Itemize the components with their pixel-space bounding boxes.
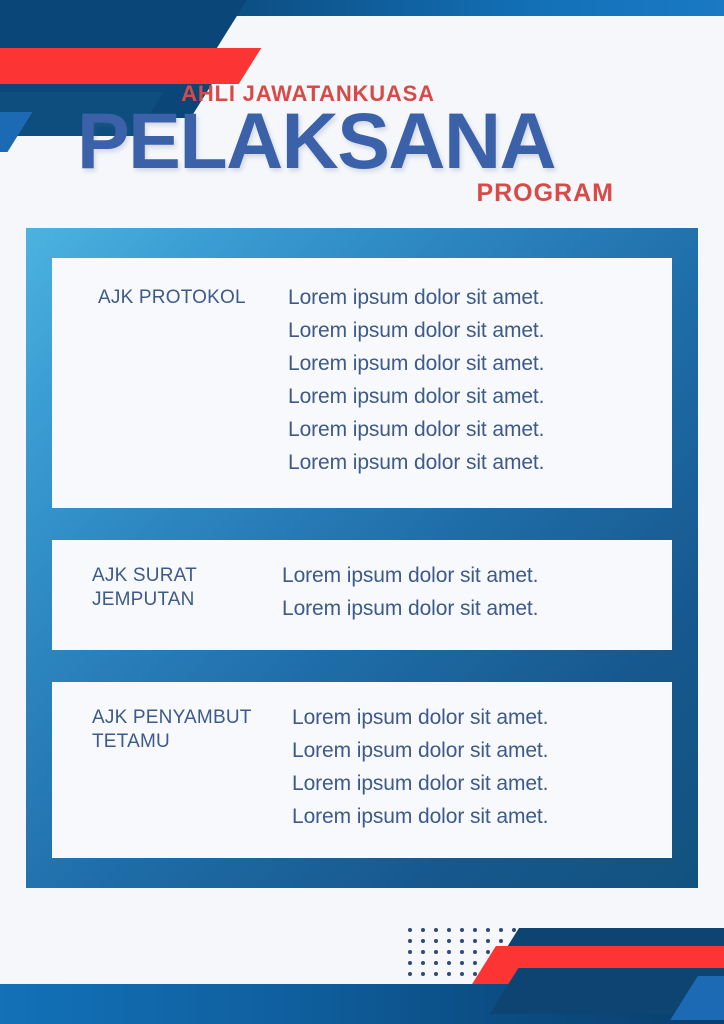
- dot: [499, 939, 503, 943]
- list-item: Lorem ipsum dolor sit amet.: [282, 562, 650, 591]
- dot: [473, 928, 477, 932]
- dot: [434, 928, 438, 932]
- committee-member-list: Lorem ipsum dolor sit amet. Lorem ipsum …: [288, 284, 650, 478]
- list-item: Lorem ipsum dolor sit amet.: [282, 595, 650, 624]
- dot: [408, 961, 412, 965]
- dot: [447, 928, 451, 932]
- dot: [447, 961, 451, 965]
- dot: [525, 928, 529, 932]
- list-item: Lorem ipsum dolor sit amet.: [288, 416, 650, 445]
- dot: [460, 939, 464, 943]
- dot: [499, 972, 503, 976]
- poster-canvas: AHLI JAWATANKUASA PELAKSANA PROGRAM AJK …: [0, 0, 724, 1024]
- list-item: Lorem ipsum dolor sit amet.: [288, 383, 650, 412]
- list-item: Lorem ipsum dolor sit amet.: [292, 737, 650, 766]
- committee-member-list: Lorem ipsum dolor sit amet. Lorem ipsum …: [292, 704, 650, 832]
- page-title: PELAKSANA: [0, 105, 724, 178]
- dot: [486, 972, 490, 976]
- dot: [408, 928, 412, 932]
- dot: [499, 961, 503, 965]
- dot: [434, 950, 438, 954]
- dot: [421, 961, 425, 965]
- dot: [473, 961, 477, 965]
- top-left-red-stripe: [0, 48, 261, 84]
- dot: [473, 972, 477, 976]
- committee-label: AJK PROTOKOL: [74, 284, 288, 310]
- committee-label: AJK SURAT JEMPUTAN: [74, 562, 282, 612]
- dot: [434, 972, 438, 976]
- dot: [434, 939, 438, 943]
- list-item: Lorem ipsum dolor sit amet.: [288, 350, 650, 379]
- dot: [408, 939, 412, 943]
- dot: [512, 928, 516, 932]
- committee-card: AJK SURAT JEMPUTAN Lorem ipsum dolor sit…: [52, 540, 672, 650]
- dot: [460, 972, 464, 976]
- list-item: Lorem ipsum dolor sit amet.: [292, 803, 650, 832]
- dot: [460, 928, 464, 932]
- dot: [473, 950, 477, 954]
- dot: [525, 972, 529, 976]
- dot: [408, 950, 412, 954]
- dot: [447, 950, 451, 954]
- dot: [525, 961, 529, 965]
- dot: [486, 939, 490, 943]
- dot: [447, 939, 451, 943]
- dot: [525, 950, 529, 954]
- dot: [499, 928, 503, 932]
- list-item: Lorem ipsum dolor sit amet.: [292, 770, 650, 799]
- dot: [460, 950, 464, 954]
- dot: [473, 939, 477, 943]
- dot: [421, 972, 425, 976]
- dot: [408, 972, 412, 976]
- dot: [447, 972, 451, 976]
- dot: [421, 939, 425, 943]
- dot: [525, 939, 529, 943]
- dot: [486, 950, 490, 954]
- list-item: Lorem ipsum dolor sit amet.: [288, 317, 650, 346]
- dot: [512, 950, 516, 954]
- dot: [421, 950, 425, 954]
- committee-member-list: Lorem ipsum dolor sit amet. Lorem ipsum …: [282, 562, 650, 624]
- headline-block: AHLI JAWATANKUASA PELAKSANA PROGRAM: [0, 82, 724, 206]
- dot: [421, 928, 425, 932]
- committee-card: AJK PENYAMBUT TETAMU Lorem ipsum dolor s…: [52, 682, 672, 858]
- committee-label: AJK PENYAMBUT TETAMU: [74, 704, 292, 754]
- dot: [460, 961, 464, 965]
- dot: [434, 961, 438, 965]
- top-gradient-bar: [0, 0, 724, 16]
- dot: [486, 928, 490, 932]
- dot-grid-decoration: [408, 928, 538, 983]
- dot: [512, 961, 516, 965]
- list-item: Lorem ipsum dolor sit amet.: [288, 284, 650, 313]
- list-item: Lorem ipsum dolor sit amet.: [288, 449, 650, 478]
- bottom-gradient-bar: [0, 984, 724, 1024]
- dot: [512, 972, 516, 976]
- committee-card: AJK PROTOKOL Lorem ipsum dolor sit amet.…: [52, 258, 672, 508]
- list-item: Lorem ipsum dolor sit amet.: [292, 704, 650, 733]
- dot: [486, 961, 490, 965]
- committee-panel: AJK PROTOKOL Lorem ipsum dolor sit amet.…: [26, 228, 698, 888]
- dot: [499, 950, 503, 954]
- dot: [512, 939, 516, 943]
